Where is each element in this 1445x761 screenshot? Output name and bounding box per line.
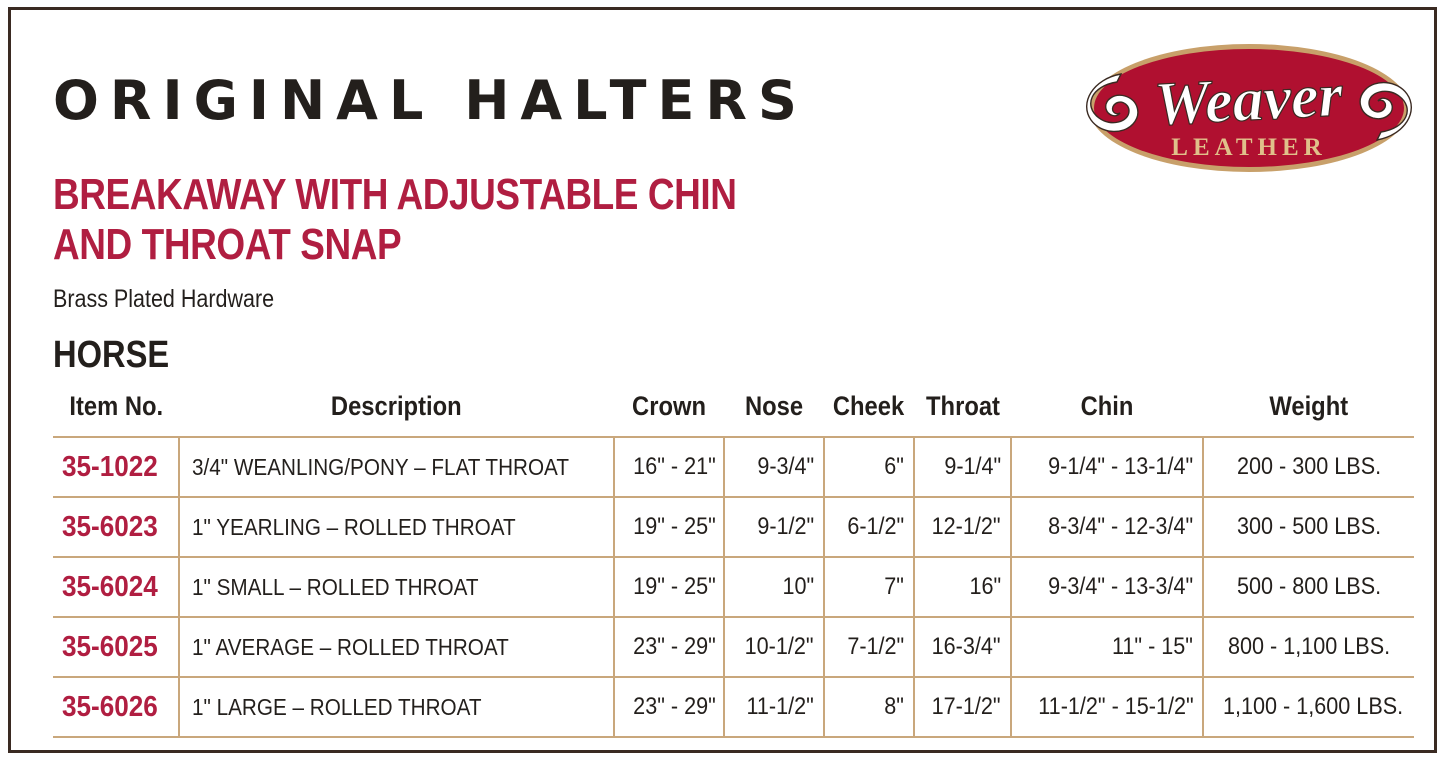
cell-description: 1" SMALL – ROLLED THROAT [179,557,614,617]
table-header-row: Item No. Description Crown Nose Cheek Th… [53,391,1414,437]
cell-weight: 200 - 300 LBS. [1203,437,1414,497]
hardware-note: Brass Plated Hardware [53,284,274,314]
table-body: 35-1022 3/4" WEANLING/PONY – FLAT THROAT… [53,437,1414,737]
cell-nose: 9-3/4" [724,437,824,497]
cell-cheek: 7" [824,557,914,617]
cell-cheek: 8" [824,677,914,737]
weaver-leather-logo: Weaver LEATHER [1073,32,1425,182]
cell-weight: 800 - 1,100 LBS. [1203,617,1414,677]
cell-item-no: 35-1022 [53,437,179,497]
column-header-item-no: Item No. [53,391,179,437]
cell-weight: 500 - 800 LBS. [1203,557,1414,617]
cell-cheek: 6-1/2" [824,497,914,557]
cell-chin: 11-1/2" - 15-1/2" [1011,677,1203,737]
column-header-description: Description [179,391,614,437]
cell-cheek: 6" [824,437,914,497]
page-subtitle: BREAKAWAY WITH ADJUSTABLE CHIN AND THROA… [53,170,742,270]
table-row: 35-1022 3/4" WEANLING/PONY – FLAT THROAT… [53,437,1414,497]
table-row: 35-6023 1" YEARLING – ROLLED THROAT 19" … [53,497,1414,557]
cell-nose: 10" [724,557,824,617]
cell-throat: 17-1/2" [914,677,1011,737]
logo-tagline-text: LEATHER [1171,134,1326,161]
cell-crown: 16" - 21" [614,437,724,497]
catalog-page: ORIGINAL HALTERS BREAKAWAY WITH ADJUSTAB… [0,0,1445,761]
cell-description: 1" AVERAGE – ROLLED THROAT [179,617,614,677]
cell-throat: 16" [914,557,1011,617]
cell-weight: 300 - 500 LBS. [1203,497,1414,557]
column-header-chin: Chin [1011,391,1203,437]
spec-table-container: Item No. Description Crown Nose Cheek Th… [53,391,1414,738]
column-header-throat: Throat [914,391,1011,437]
column-header-weight: Weight [1203,391,1414,437]
cell-item-no: 35-6026 [53,677,179,737]
cell-chin: 8-3/4" - 12-3/4" [1011,497,1203,557]
cell-description: 1" LARGE – ROLLED THROAT [179,677,614,737]
table-row: 35-6026 1" LARGE – ROLLED THROAT 23" - 2… [53,677,1414,737]
page-title: ORIGINAL HALTERS [53,72,808,130]
column-header-crown: Crown [614,391,724,437]
cell-crown: 23" - 29" [614,677,724,737]
cell-throat: 12-1/2" [914,497,1011,557]
cell-nose: 11-1/2" [724,677,824,737]
cell-nose: 10-1/2" [724,617,824,677]
column-header-nose: Nose [724,391,824,437]
cell-chin: 9-3/4" - 13-3/4" [1011,557,1203,617]
cell-item-no: 35-6024 [53,557,179,617]
cell-cheek: 7-1/2" [824,617,914,677]
cell-item-no: 35-6025 [53,617,179,677]
subtitle-line-1: BREAKAWAY WITH ADJUSTABLE CHIN [53,170,737,219]
cell-description: 3/4" WEANLING/PONY – FLAT THROAT [179,437,614,497]
cell-crown: 19" - 25" [614,497,724,557]
cell-chin: 11" - 15" [1011,617,1203,677]
cell-item-no: 35-6023 [53,497,179,557]
cell-chin: 9-1/4" - 13-1/4" [1011,437,1203,497]
table-row: 35-6025 1" AVERAGE – ROLLED THROAT 23" -… [53,617,1414,677]
page-border-frame: ORIGINAL HALTERS BREAKAWAY WITH ADJUSTAB… [8,7,1437,753]
cell-weight: 1,100 - 1,600 LBS. [1203,677,1414,737]
cell-throat: 16-3/4" [914,617,1011,677]
column-header-cheek: Cheek [824,391,914,437]
logo-brand-text: Weaver [1153,61,1345,139]
cell-throat: 9-1/4" [914,437,1011,497]
cell-crown: 23" - 29" [614,617,724,677]
cell-description: 1" YEARLING – ROLLED THROAT [179,497,614,557]
halter-spec-table: Item No. Description Crown Nose Cheek Th… [53,391,1414,738]
cell-nose: 9-1/2" [724,497,824,557]
category-heading: HORSE [53,333,169,377]
cell-crown: 19" - 25" [614,557,724,617]
subtitle-line-2: AND THROAT SNAP [53,220,742,270]
table-row: 35-6024 1" SMALL – ROLLED THROAT 19" - 2… [53,557,1414,617]
